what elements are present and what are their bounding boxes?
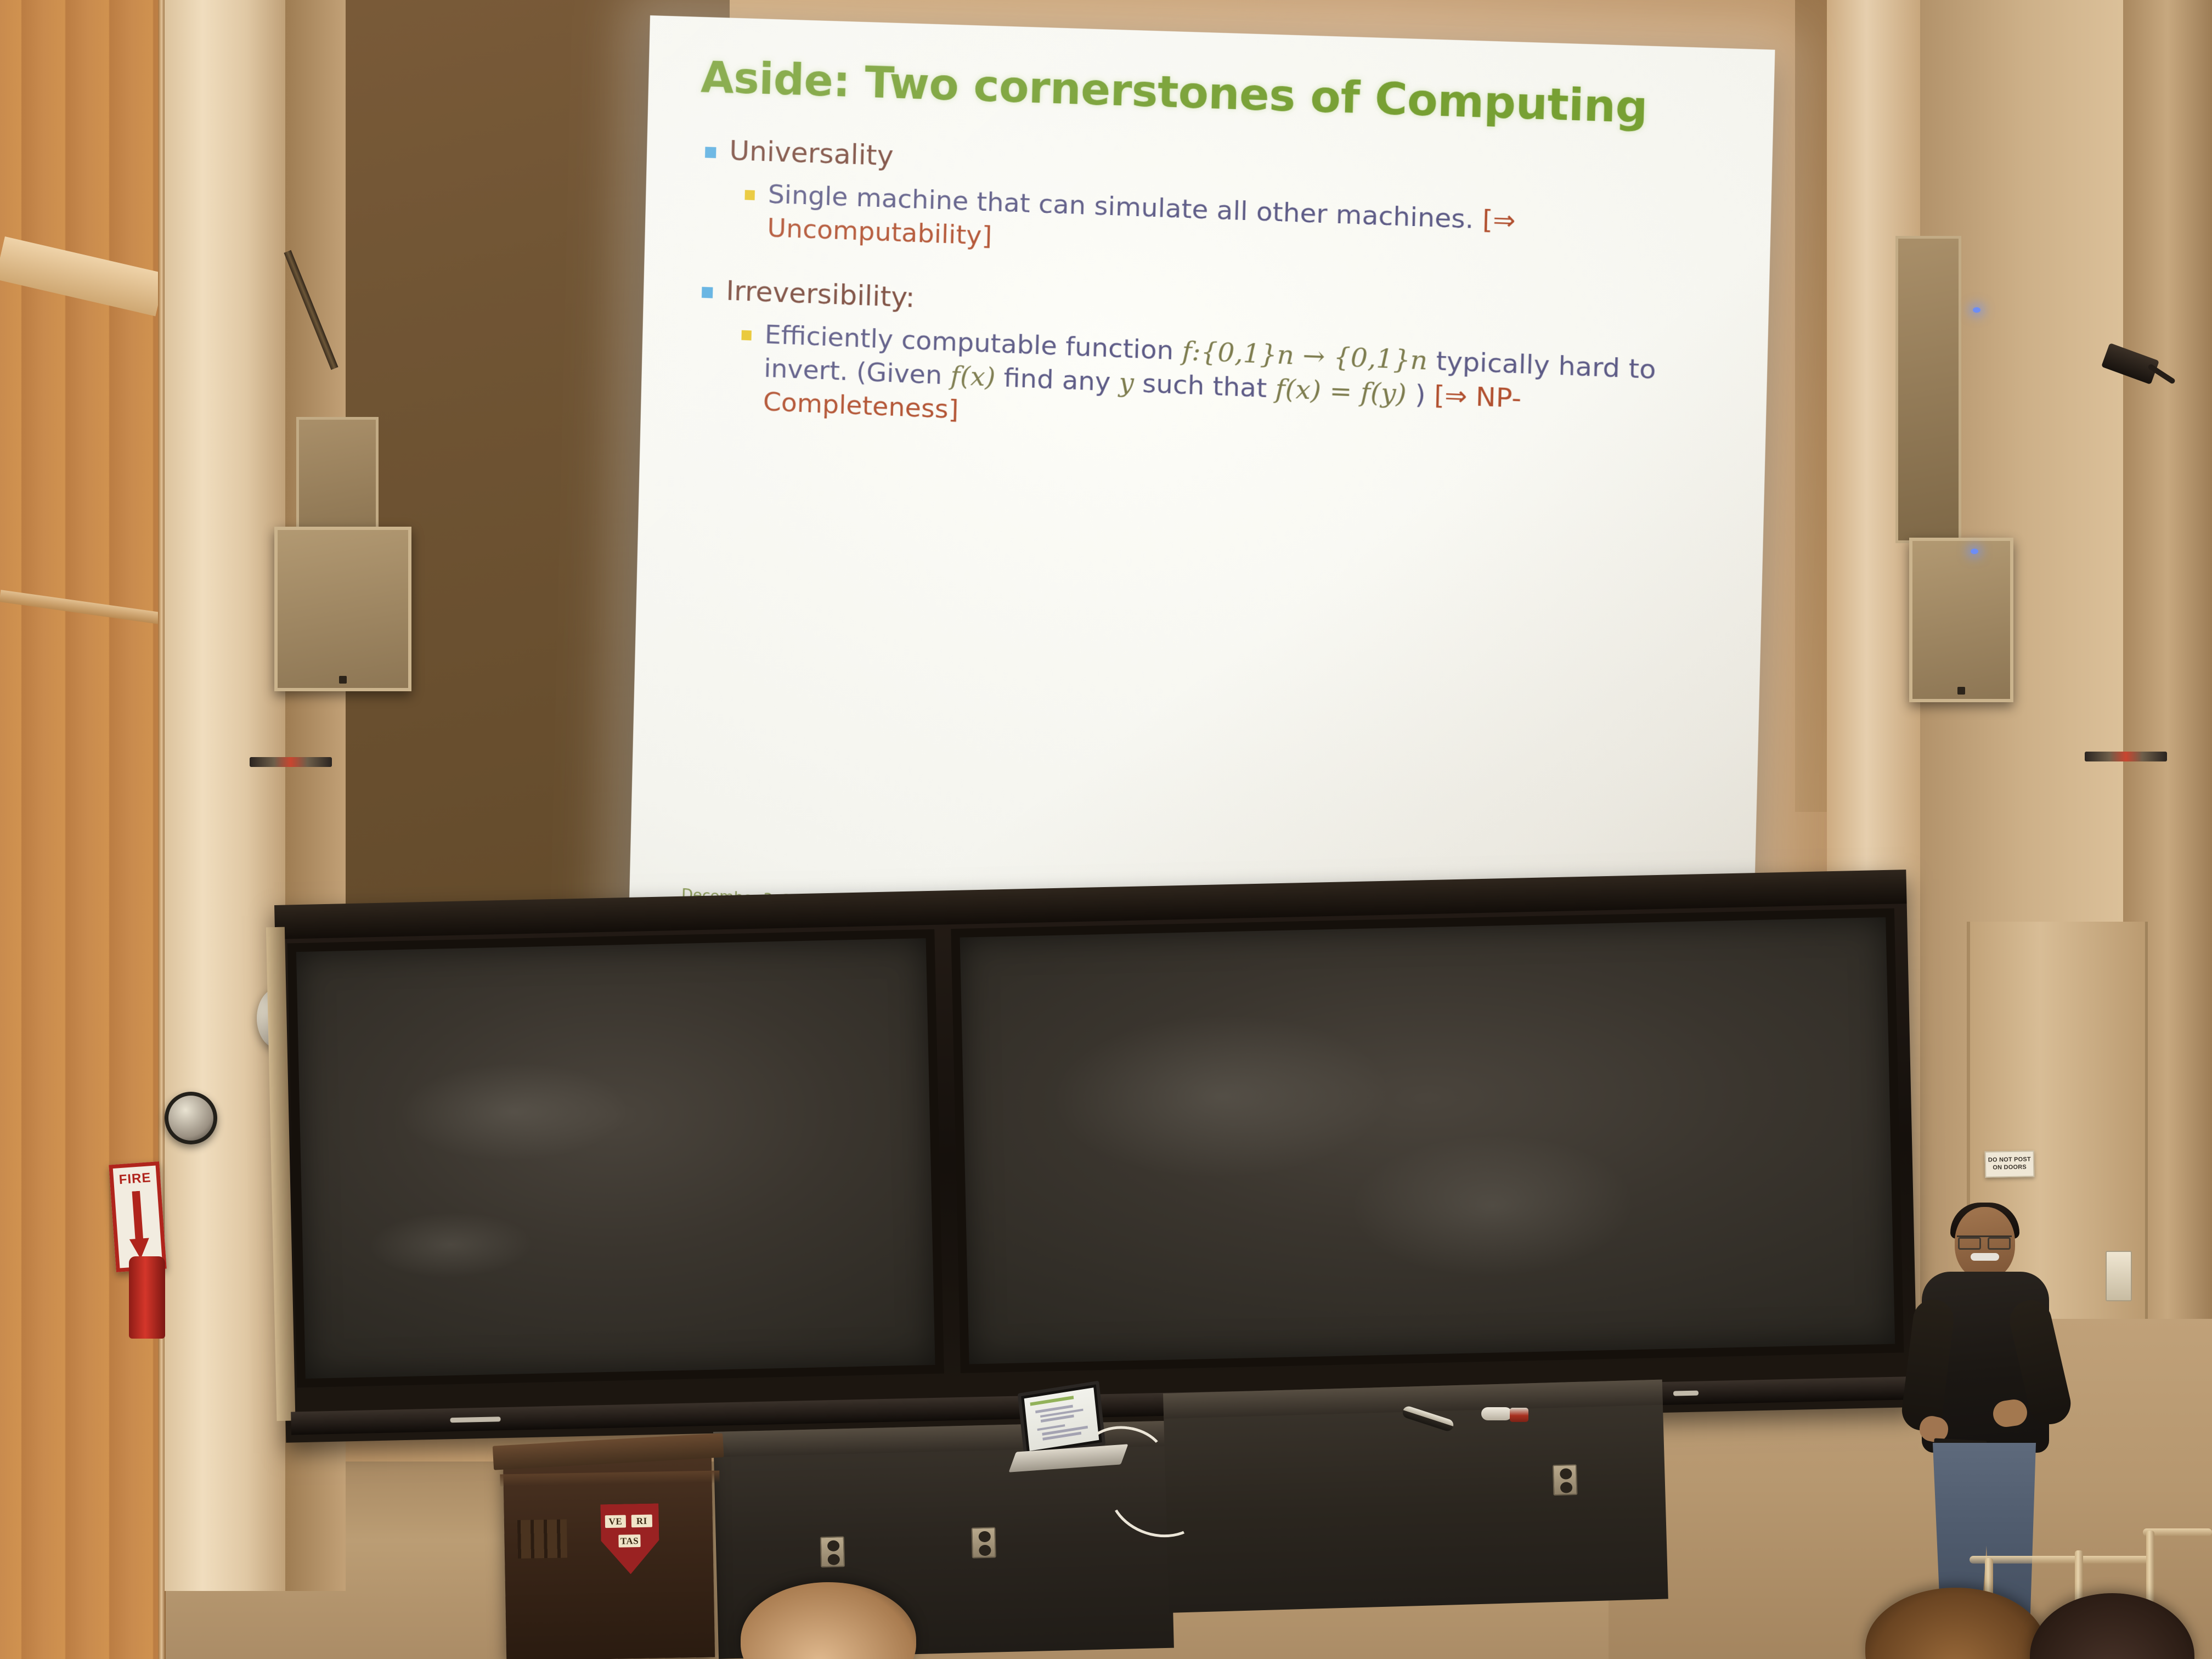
collision-equation: f(x) = f(y) (1275, 374, 1407, 410)
do-not-post-sign: DO NOT POST ON DOORS (1985, 1150, 2035, 1178)
crest-book-2: RI (631, 1515, 652, 1528)
bullet-marker-gold (744, 190, 755, 201)
slide-bullet-list: Universality Single machine that can sim… (723, 133, 1725, 459)
presenter-mustache (1971, 1253, 1999, 1261)
power-outlet[interactable] (1553, 1464, 1578, 1496)
laptop-slide-title-bar (1030, 1396, 1074, 1406)
handrail-post (2146, 1531, 2154, 1602)
bullet-marker-gold (741, 330, 752, 341)
chalk-smudge (397, 1060, 630, 1164)
column-speaker-right (1895, 236, 1961, 543)
wall-speaker-right (1909, 538, 2013, 702)
glasses-icon (1957, 1235, 2012, 1245)
lectern-slats (517, 1519, 567, 1559)
fire-extinguisher (129, 1256, 165, 1339)
exponent-n-2: n (1410, 345, 1428, 376)
stair-handrail[interactable] (1970, 1556, 2151, 1564)
closing-paren-text: ) (1406, 379, 1435, 411)
lectern-ledge (500, 1470, 719, 1486)
door-sign-line-2: ON DOORS (1993, 1164, 2027, 1172)
function-codomain: {0,1} (1333, 342, 1410, 376)
light-switch-plate[interactable] (2106, 1251, 2132, 1301)
projection-screen: Aside: Two cornerstones of Computing Uni… (629, 15, 1775, 989)
harvard-veritas-crest: VE RI TAS (600, 1503, 659, 1575)
exit-light-strip-left (250, 757, 332, 767)
led-indicator-lower (1971, 549, 1978, 554)
chalkboard-left[interactable] (287, 929, 944, 1388)
chalk-smudge (1049, 1011, 1393, 1182)
chalk-smudge (368, 1210, 534, 1280)
wall-clock (165, 1092, 217, 1144)
chalk-stick[interactable] (1673, 1391, 1699, 1396)
exponent-n-1: n (1277, 340, 1295, 371)
function-domain-1: f:{0,1} (1182, 336, 1277, 370)
fire-extinguisher-sign: FIRE (109, 1161, 166, 1272)
lecture-hall-scene: FIRE DO NOT POST ON DOORS Aside: Two cor… (0, 0, 2212, 1659)
bullet-marker-blue (705, 146, 716, 158)
led-indicator-upper (1973, 307, 1980, 313)
exit-light-strip-right (2085, 752, 2167, 761)
find-any-text: find any (995, 363, 1120, 398)
down-arrow-icon (126, 1190, 151, 1260)
f-of-x-1: f(x) (950, 360, 996, 393)
wall-pilaster (165, 0, 291, 1591)
bullet-marker-blue (702, 286, 713, 298)
wall-speaker-left (274, 527, 411, 691)
crest-book-3: TAS (618, 1534, 640, 1548)
chalkboard-right[interactable] (951, 909, 1904, 1373)
chalk-smudge (1348, 1131, 1637, 1280)
bullet-irreversibility: Irreversibility: Efficiently computable … (723, 273, 1722, 459)
such-that-text: such that (1133, 368, 1276, 404)
power-outlet[interactable] (971, 1527, 996, 1558)
power-outlet[interactable] (820, 1536, 845, 1567)
slide-title: Aside: Two cornerstones of Computing (700, 55, 1727, 134)
lectern: VE RI TAS (503, 1452, 715, 1659)
microphone-indicator (1510, 1408, 1528, 1422)
bullet-universality: Universality Single machine that can sim… (727, 133, 1725, 280)
slide: Aside: Two cornerstones of Computing Uni… (629, 15, 1775, 989)
variable-y: y (1119, 368, 1135, 399)
chalkboard-assembly (274, 870, 1918, 1443)
crest-book-1: VE (605, 1515, 626, 1528)
maps-to-arrow: → (1294, 340, 1334, 373)
fire-sign-label: FIRE (119, 1170, 151, 1188)
microphone-2[interactable] (1481, 1407, 1512, 1420)
door-sign-line-1: DO NOT POST (1988, 1156, 2031, 1165)
